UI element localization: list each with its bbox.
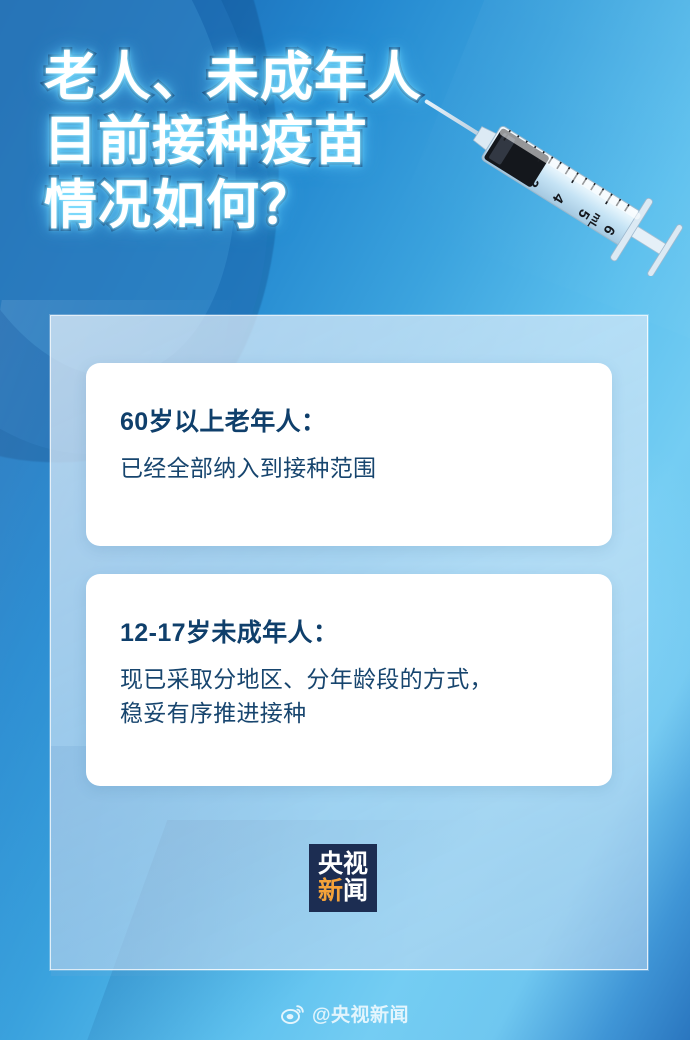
cctv-logo-char-wen: 闻 (343, 878, 368, 905)
cctv-news-logo: 央 视 新 闻 (309, 844, 377, 912)
info-card-minors: 12-17岁未成年人： 现已采取分地区、分年龄段的方式， 稳妥有序推进接种 (86, 574, 612, 786)
poster-root: 3 4 5 6 mL 老人、未成年人 目前接种疫苗 情况如何？ 60岁以上老年人… (0, 0, 690, 1040)
weibo-icon (281, 1004, 305, 1024)
headline-line-1: 老人、未成年人 (44, 46, 422, 110)
headline-line-3: 情况如何？ (44, 174, 422, 238)
syringe-illustration: 3 4 5 6 mL (418, 96, 690, 276)
headline: 老人、未成年人 目前接种疫苗 情况如何？ (44, 46, 422, 238)
cctv-logo-char-shi: 视 (343, 851, 368, 878)
cctv-news-logo-row-bottom: 新 闻 (318, 878, 368, 905)
info-card-elderly: 60岁以上老年人： 已经全部纳入到接种范围 (86, 363, 612, 546)
info-card-elderly-body: 已经全部纳入到接种范围 (120, 451, 578, 485)
cctv-logo-char-xin: 新 (318, 878, 343, 905)
content-panel: 60岁以上老年人： 已经全部纳入到接种范围 12-17岁未成年人： 现已采取分地… (50, 315, 648, 970)
info-card-elderly-title: 60岁以上老年人： (120, 405, 578, 439)
weibo-watermark: @央视新闻 (0, 1000, 690, 1027)
info-card-minors-body: 现已采取分地区、分年龄段的方式， 稳妥有序推进接种 (120, 662, 578, 730)
cctv-logo-char-yang: 央 (318, 851, 343, 878)
headline-line-2: 目前接种疫苗 (44, 110, 422, 174)
weibo-handle: @央视新闻 (312, 1000, 409, 1027)
info-card-minors-title: 12-17岁未成年人： (120, 616, 578, 650)
cctv-news-logo-row-top: 央 视 (318, 851, 368, 878)
